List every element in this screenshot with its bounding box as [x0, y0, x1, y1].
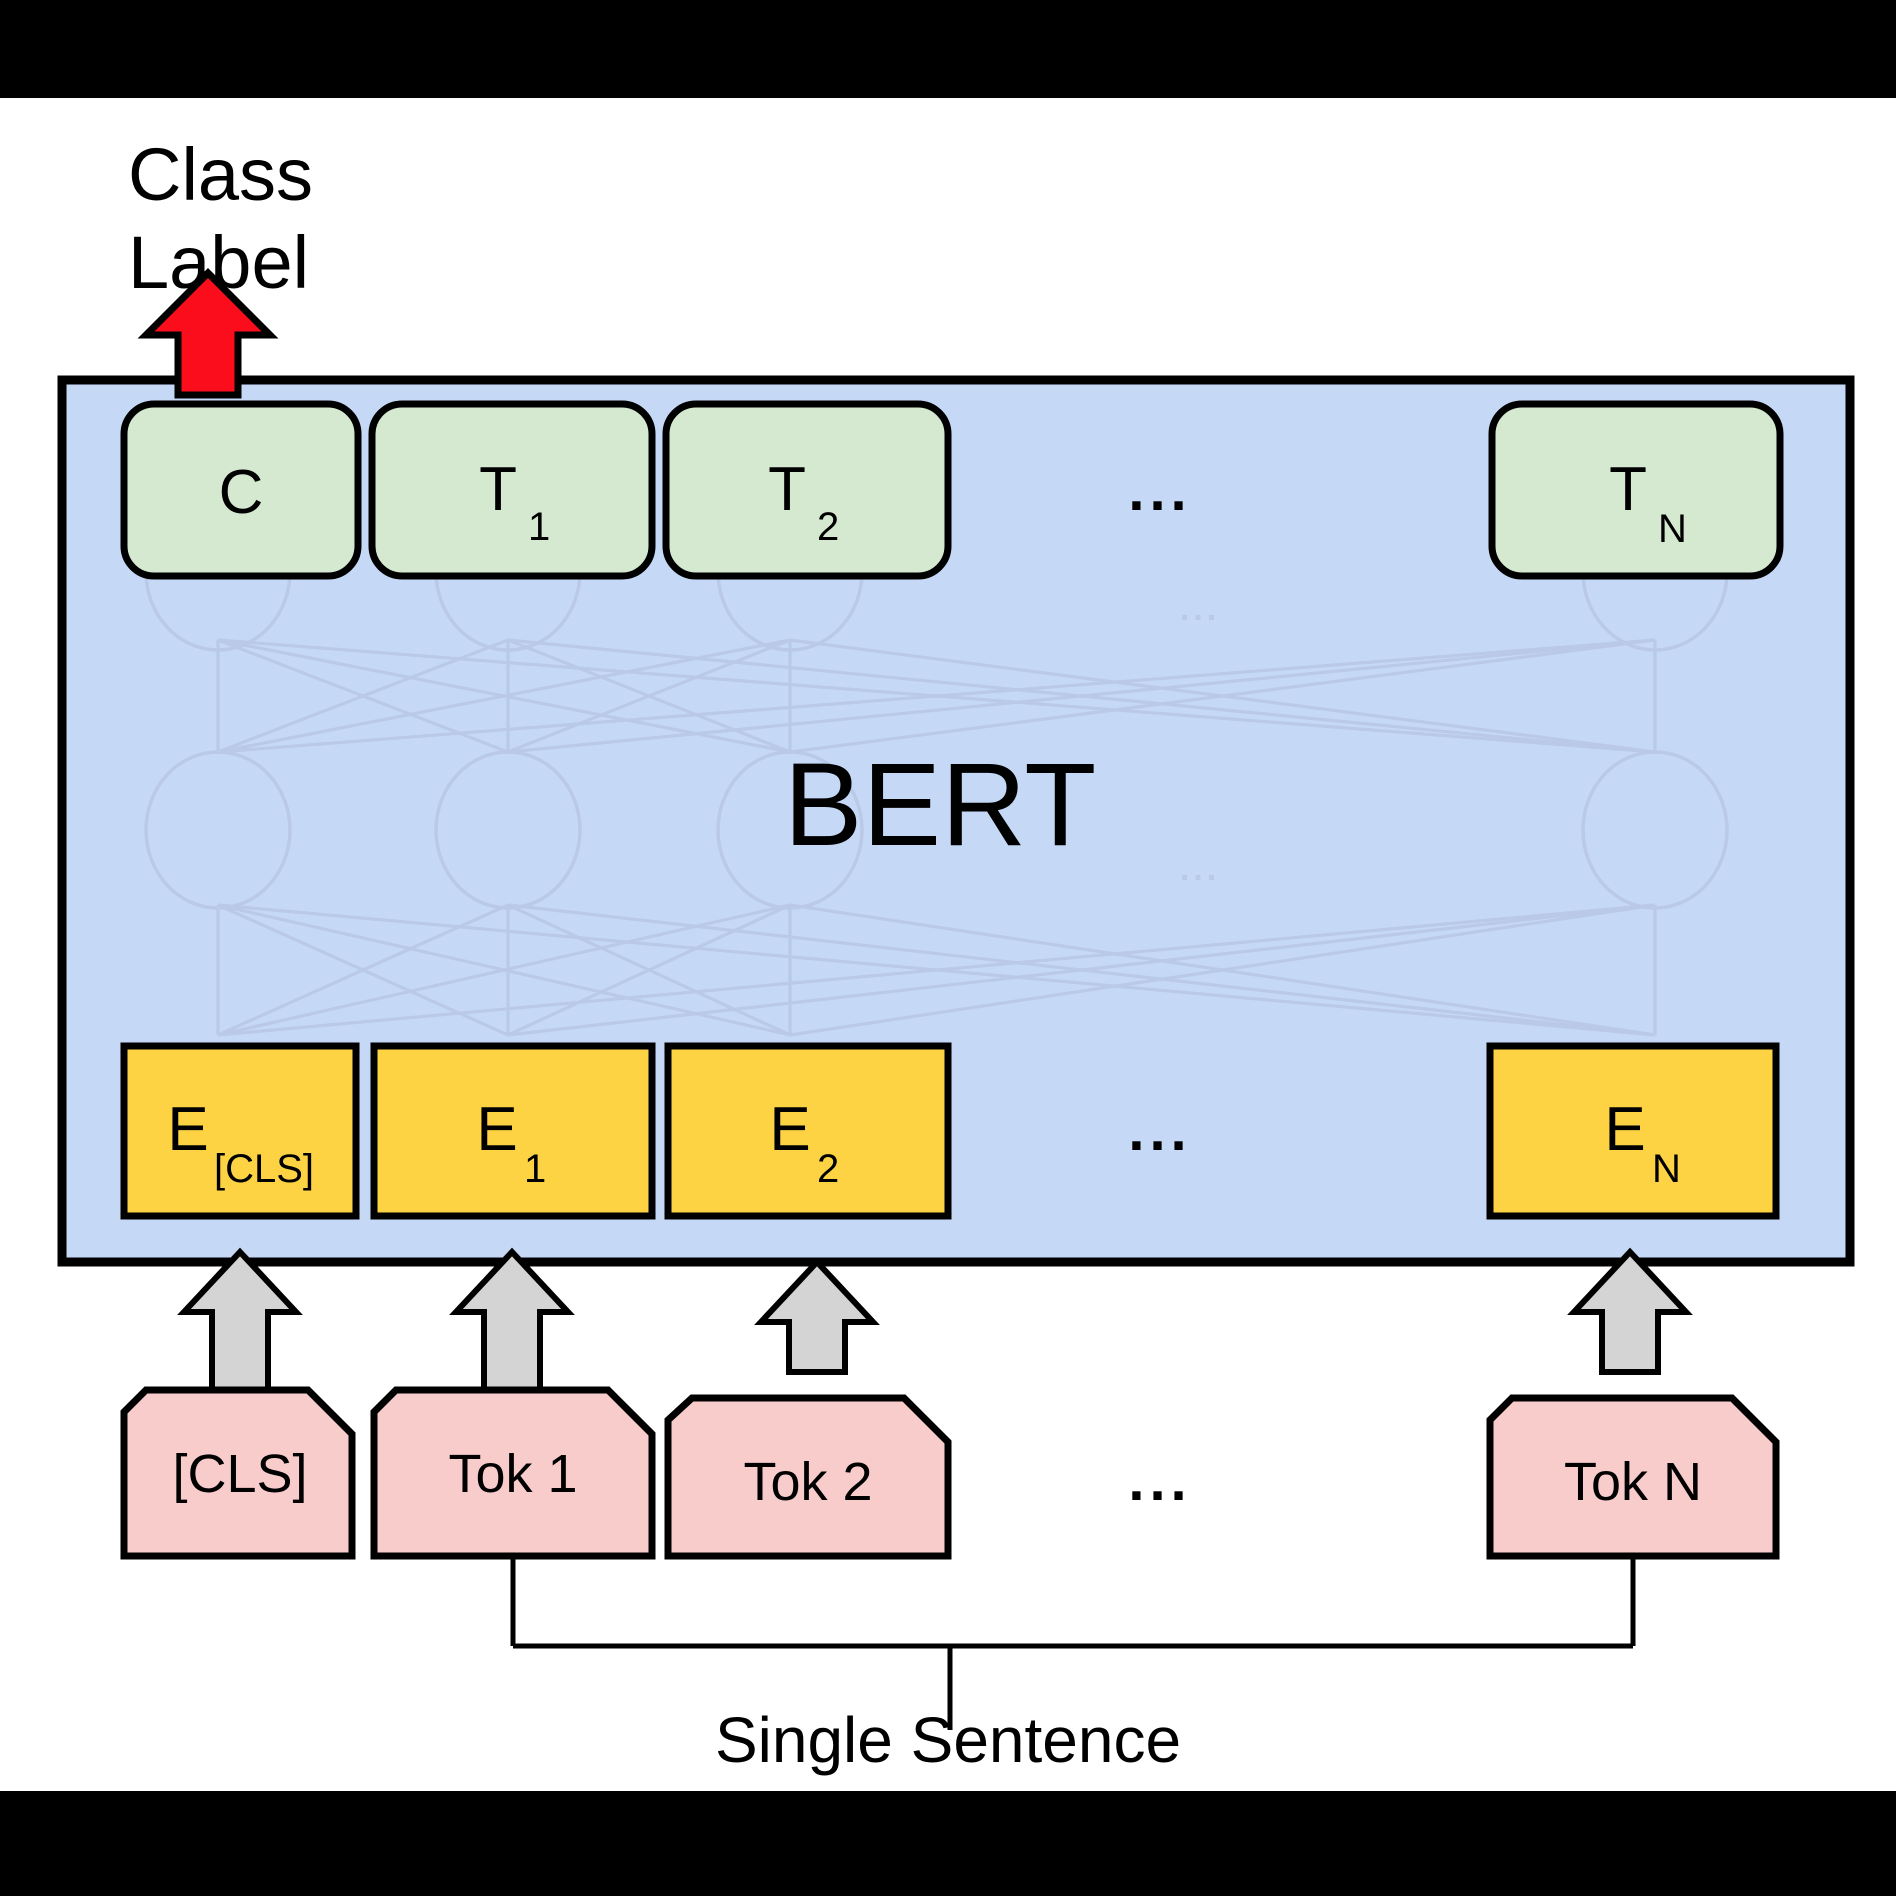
embedding-sub-e1: 1 [524, 1147, 546, 1191]
bert-label: BERT [784, 739, 1097, 871]
input-token-label-cls: [CLS] [172, 1444, 307, 1504]
output-token-label-t1: T [479, 455, 517, 524]
letterbox-bottom [0, 1791, 1896, 1896]
output-token-label-t2: T [768, 455, 806, 524]
embedding-label-e-cls: E [167, 1095, 208, 1164]
single-sentence-caption-text: Single Sentence [715, 1703, 1181, 1777]
embedding-label-en: E [1604, 1095, 1645, 1164]
network-ellipsis-upper: ... [1180, 590, 1220, 628]
input-arrow-cls [184, 1252, 296, 1400]
input-arrow-tok2 [761, 1262, 873, 1372]
class-label-line1: Class [128, 133, 313, 216]
input-arrow-row [184, 1252, 1686, 1400]
input-token-label-tokn: Tok N [1564, 1452, 1702, 1512]
embedding-sub-e-cls: [CLS] [214, 1147, 314, 1191]
network-ellipsis-lower: ... [1180, 850, 1220, 888]
input-arrow-tok1 [456, 1252, 568, 1400]
output-token-sub-t1: 1 [528, 505, 550, 549]
embedding-sub-en: N [1652, 1147, 1681, 1191]
output-token-sub-tn: N [1658, 507, 1687, 551]
output-token-label-tn: T [1609, 455, 1647, 524]
embedding-row [124, 1046, 1776, 1216]
input-token-row [124, 1390, 1776, 1556]
output-token-box-t2[interactable] [666, 404, 948, 576]
single-sentence-caption: Single Sentence [0, 1690, 1896, 1790]
input-arrow-tokn [1574, 1252, 1686, 1372]
output-token-label-c: C [219, 458, 264, 527]
letterbox-top [0, 0, 1896, 98]
input-token-row-ellipsis: ... [1128, 1448, 1191, 1513]
embedding-label-e1: E [476, 1095, 517, 1164]
input-token-label-tok2: Tok 2 [743, 1452, 872, 1512]
output-row-ellipsis: ... [1128, 458, 1191, 523]
embedding-row-ellipsis: ... [1128, 1098, 1191, 1163]
input-token-label-tok1: Tok 1 [448, 1444, 577, 1504]
embedding-label-e2: E [769, 1095, 810, 1164]
output-token-sub-t2: 2 [817, 505, 839, 549]
embedding-sub-e2: 2 [817, 1147, 839, 1191]
diagram-canvas: ... ... BERT Class Label C T 1 T 2 T N .… [0, 0, 1896, 1896]
